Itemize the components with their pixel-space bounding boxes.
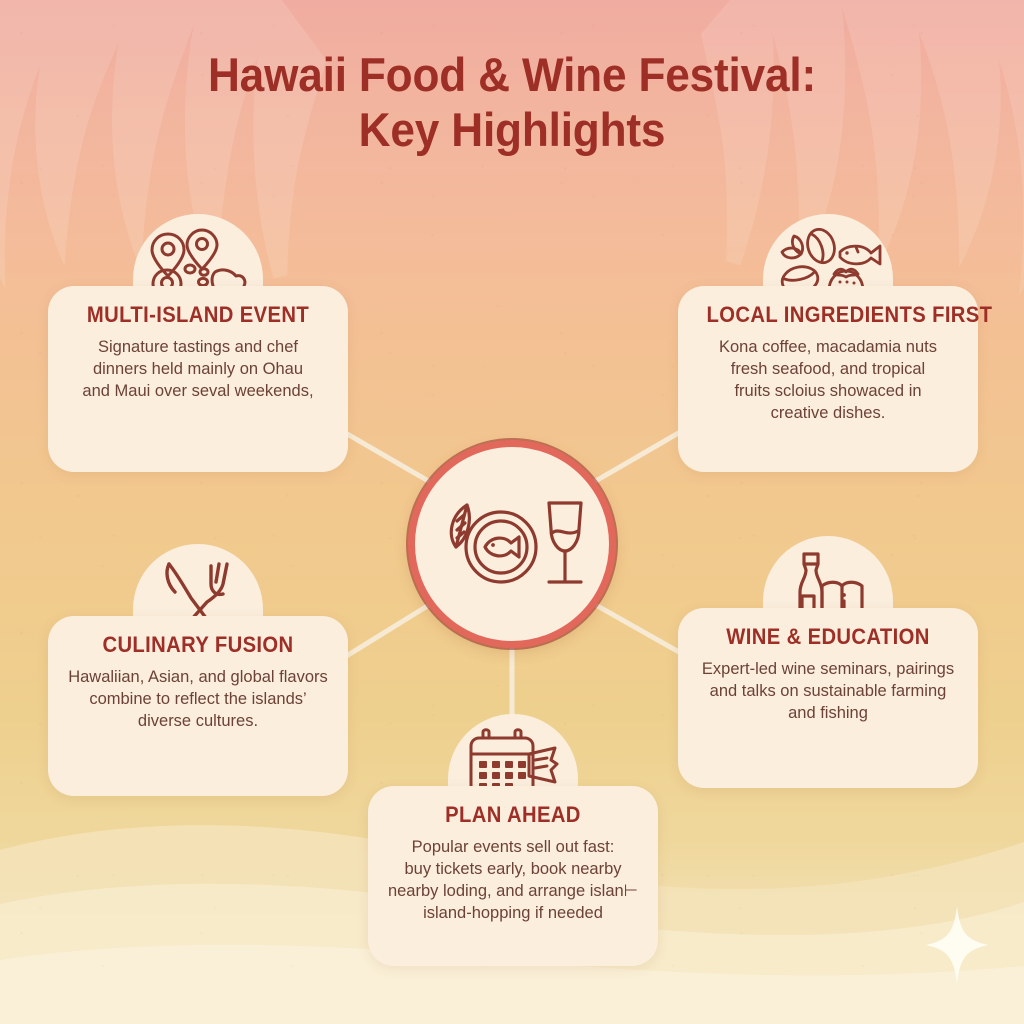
- desc-line: Kona coffee, macadamia nuts: [696, 337, 960, 359]
- desc-line: fruits scloius showaced in: [696, 381, 960, 403]
- desc-line: and talks on sustainable farming: [696, 681, 960, 703]
- card-description: Kona coffee, macadamia nuts fresh seafoo…: [696, 337, 960, 425]
- card-title: CULINARY FUSION: [77, 632, 320, 658]
- connector-to-culinary-fusion: [340, 600, 437, 660]
- page-title-line-1: Hawaii Food & Wine Festival:: [208, 48, 816, 101]
- desc-line: combine to reflect the islands’: [66, 689, 330, 711]
- card-title: PLAN AHEAD: [396, 802, 630, 828]
- desc-line: and fishing: [696, 703, 960, 725]
- desc-line: Popular events sell out fast:: [386, 837, 640, 859]
- card-title: LOCAL INGREDIENTS FIRST: [707, 302, 950, 328]
- center-emblem: [408, 440, 616, 648]
- card-local-ingredients[interactable]: LOCAL INGREDIENTS FIRST Kona coffee, mac…: [678, 286, 978, 472]
- page-title: Hawaii Food & Wine Festival: Key Highlig…: [31, 48, 994, 157]
- card-multi-island[interactable]: MULTI-ISLAND EVENT Signature tastings an…: [48, 286, 348, 472]
- card-description: Popular events sell out fast: buy ticket…: [386, 837, 640, 925]
- card-body: LOCAL INGREDIENTS FIRST Kona coffee, mac…: [678, 286, 978, 472]
- card-description: Signature tastings and chef dinners held…: [66, 337, 330, 403]
- desc-line: creative dishes.: [696, 403, 960, 425]
- card-title: WINE & EDUCATION: [707, 624, 950, 650]
- desc-line: Expert-led wine seminars, pairings: [696, 659, 960, 681]
- desc-line: island-hopping if needed: [386, 903, 640, 925]
- four-point-sparkle: [926, 906, 988, 984]
- infographic-canvas: Hawaii Food & Wine Festival: Key Highlig…: [0, 0, 1024, 1024]
- card-wine-education[interactable]: WINE & EDUCATION Expert-led wine seminar…: [678, 608, 978, 788]
- desc-line: and Maui over seval weekends,: [66, 381, 330, 403]
- card-body: WINE & EDUCATION Expert-led wine seminar…: [678, 608, 978, 788]
- card-body: PLAN AHEAD Popular events sell out fast:…: [368, 786, 658, 966]
- page-title-line-2: Key Highlights: [31, 103, 994, 158]
- connector-to-wine-education: [587, 600, 686, 656]
- desc-line: Signature tastings and chef: [66, 337, 330, 359]
- desc-line: buy tickets early, book nearby: [386, 859, 640, 881]
- desc-line: fresh seafood, and tropical: [696, 359, 960, 381]
- card-body: MULTI-ISLAND EVENT Signature tastings an…: [48, 286, 348, 472]
- plate-fish-wine-leaf-icon: [437, 489, 587, 599]
- desc-line: nearby loding, and arrange islan⊢: [386, 881, 640, 903]
- card-body: CULINARY FUSION Hawaliian, Asian, and gl…: [48, 616, 348, 796]
- card-plan-ahead[interactable]: PLAN AHEAD Popular events sell out fast:…: [368, 786, 658, 966]
- desc-line: dinners held mainly on Ohau: [66, 359, 330, 381]
- desc-line: diverse cultures.: [66, 711, 330, 733]
- card-title: MULTI-ISLAND EVENT: [77, 302, 320, 328]
- card-culinary-fusion[interactable]: CULINARY FUSION Hawaliian, Asian, and gl…: [48, 616, 348, 796]
- card-description: Expert-led wine seminars, pairings and t…: [696, 659, 960, 725]
- card-description: Hawaliian, Asian, and global flavors com…: [66, 667, 330, 733]
- desc-line: Hawaliian, Asian, and global flavors: [66, 667, 330, 689]
